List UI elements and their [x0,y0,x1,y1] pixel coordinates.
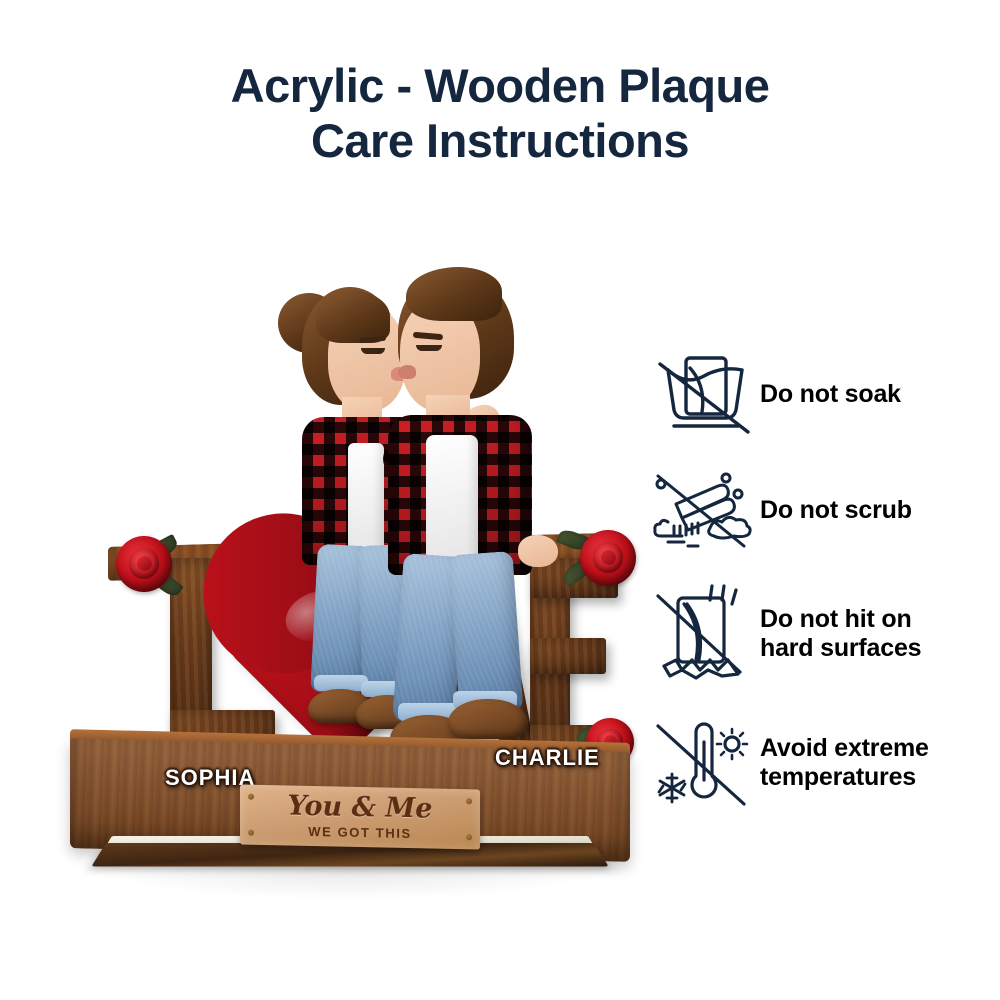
care-label-do-not-hit: Do not hit on hard surfaces [760,605,921,663]
man-eye [416,345,442,351]
care-instructions-page: Acrylic - Wooden Plaque Care Instruction… [0,0,1000,1000]
plate-main-text: You & Me [288,792,433,823]
plate-screw [248,830,254,836]
rose-center [601,550,616,565]
care-label-do-not-soak: Do not soak [760,380,901,409]
no-hit-hard-surface-icon [648,584,760,684]
no-scrub-icon [648,470,760,550]
name-label-right: CHARLIE [495,745,600,771]
care-label-avoid-extreme-temperatures: Avoid extreme temperatures [760,734,929,792]
page-title-line-1: Acrylic - Wooden Plaque [0,58,1000,113]
no-soak-icon [648,352,760,436]
rose-top-left [116,536,172,592]
woman-eye [361,348,385,354]
engraved-plate: You & Me WE GOT THIS [240,784,480,849]
care-item-do-not-soak: Do not soak [648,352,988,436]
care-item-do-not-scrub: Do not scrub [648,470,988,550]
couple-figurine [230,245,550,765]
product-image: SOPHIA CHARLIE You & Me WE GOT THIS [60,240,640,940]
man-hair-quiff [406,267,502,321]
care-label-do-not-scrub: Do not scrub [760,496,912,525]
page-title-line-2: Care Instructions [0,113,1000,168]
plate-sub-text: WE GOT THIS [308,824,412,841]
care-item-do-not-hit: Do not hit on hard surfaces [648,584,988,684]
rose-center [137,556,152,571]
care-item-avoid-extreme-temperatures: Avoid extreme temperatures [648,718,988,808]
man-shoe-right [448,699,528,739]
plate-screw [248,794,254,800]
woman-hair-front [316,291,390,343]
rose-top-right [580,530,636,586]
avoid-extreme-temperature-icon [648,718,760,808]
man-lips [398,365,416,379]
plate-screw [466,798,472,804]
plate-screw [466,834,472,840]
page-title: Acrylic - Wooden Plaque Care Instruction… [0,58,1000,168]
man-hand [518,535,558,567]
care-instructions-list: Do not soak [648,352,988,808]
